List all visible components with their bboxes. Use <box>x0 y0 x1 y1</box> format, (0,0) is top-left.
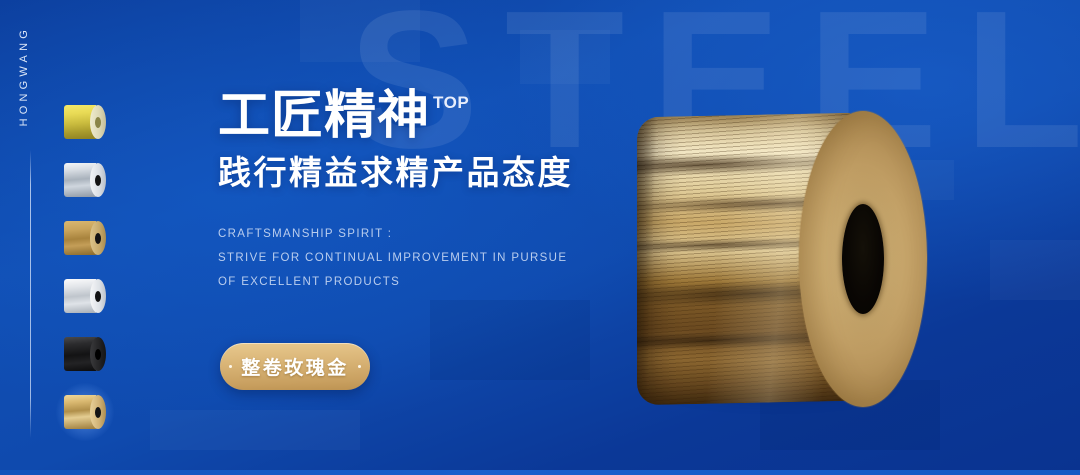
title-superscript-badge: TOP <box>433 93 469 113</box>
thumbnail-coil-gold-yellow[interactable] <box>56 96 114 148</box>
bullet-dot-left-icon <box>229 365 233 369</box>
brand-name: HONGWANG <box>18 26 30 126</box>
hero-product-image <box>637 115 927 403</box>
product-thumbnail-list[interactable] <box>56 96 120 444</box>
coil-end-face <box>799 111 927 407</box>
coil-icon <box>64 105 106 139</box>
english-line-2: STRIVE FOR CONTINUAL IMPROVEMENT IN PURS… <box>218 247 573 271</box>
headline-copy-block: 工匠精神 TOP 践行精益求精产品态度 CRAFTSMANSHIP SPIRIT… <box>218 88 573 294</box>
thumbnail-coil-silver-matte[interactable] <box>56 270 114 322</box>
page-subtitle: 践行精益求精产品态度 <box>218 155 573 191</box>
bullet-dot-right-icon <box>358 365 362 369</box>
bottom-accent-strip <box>0 470 1080 475</box>
product-variant-label: 整卷玫瑰金 <box>241 353 349 380</box>
english-line-3: OF EXCELLENT PRODUCTS <box>218 271 573 295</box>
coil-icon <box>64 395 106 429</box>
coil-icon <box>64 337 106 371</box>
english-description: CRAFTSMANSHIP SPIRIT : STRIVE FOR CONTIN… <box>218 223 573 294</box>
brand-rail: HONGWANG <box>18 26 44 446</box>
coil-center-hole <box>842 204 884 314</box>
thumbnail-coil-brass[interactable] <box>56 212 114 264</box>
thumbnail-coil-rose-gold[interactable] <box>56 386 114 438</box>
rail-divider-line <box>30 150 31 438</box>
product-variant-button[interactable]: 整卷玫瑰金 <box>220 343 370 390</box>
english-line-1: CRAFTSMANSHIP SPIRIT : <box>218 223 573 247</box>
page-title: 工匠精神 <box>218 88 430 144</box>
coil-icon <box>64 279 106 313</box>
thumbnail-coil-silver-bright[interactable] <box>56 154 114 206</box>
steel-product-banner: STEEL HONGWANG <box>0 0 1080 475</box>
coil-icon <box>64 163 106 197</box>
thumbnail-coil-black[interactable] <box>56 328 114 380</box>
title-row: 工匠精神 TOP <box>218 88 573 144</box>
coil-icon <box>64 221 106 255</box>
